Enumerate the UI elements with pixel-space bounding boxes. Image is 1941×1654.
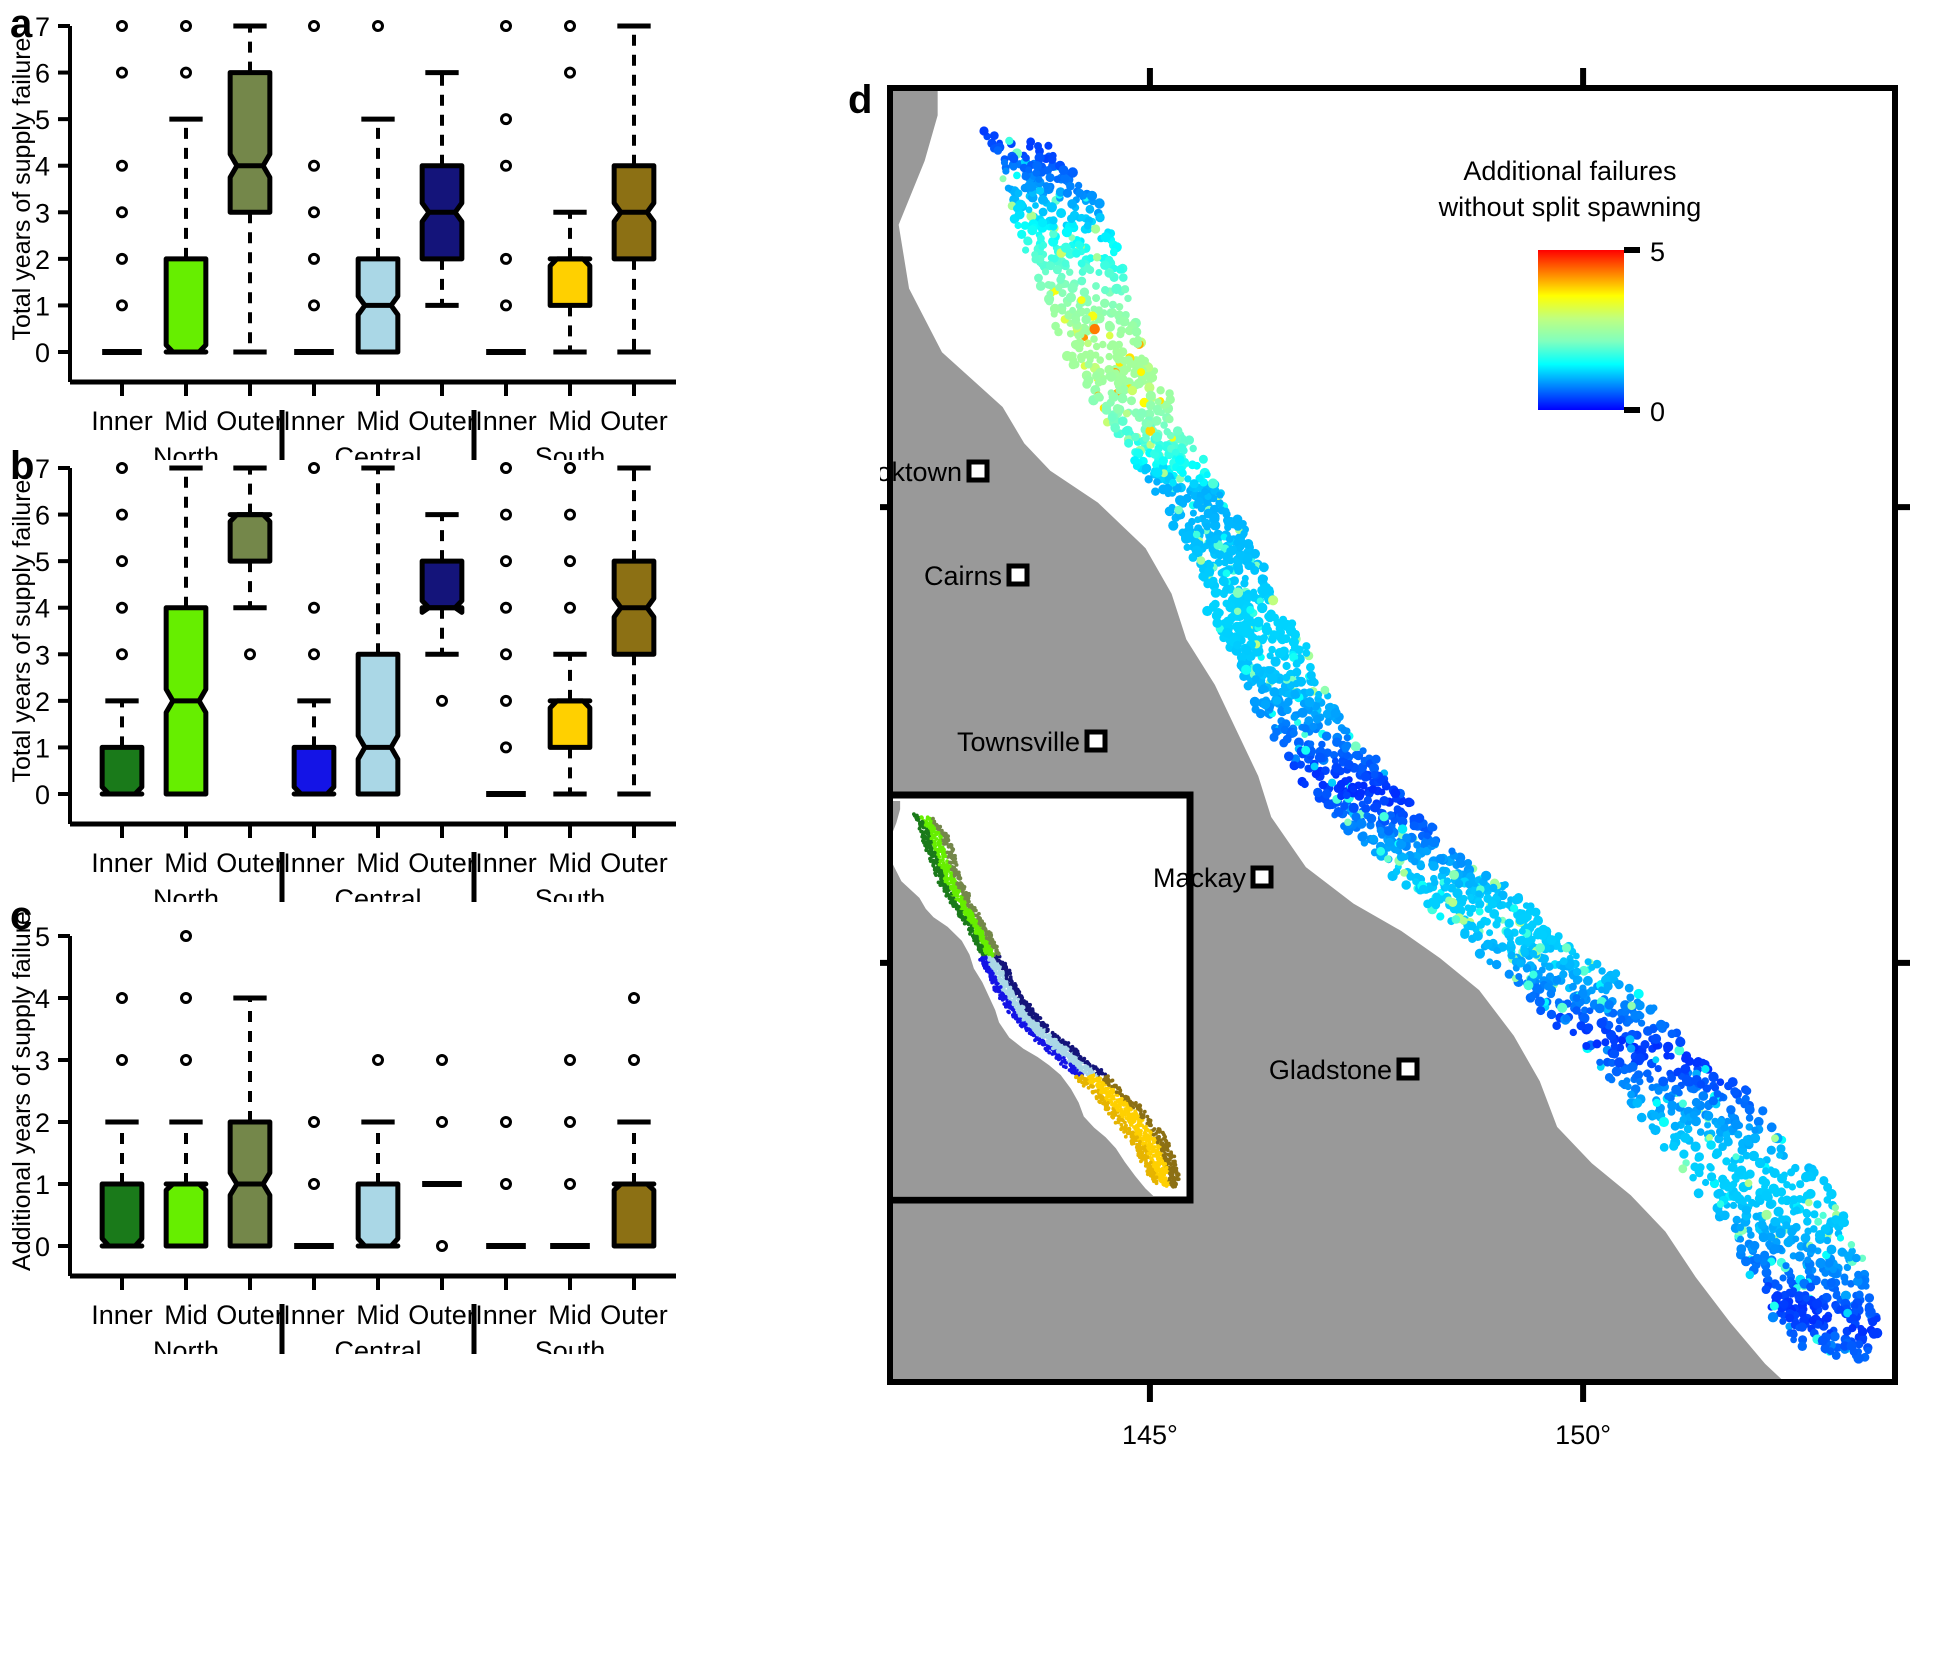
y-tick-label: 5 bbox=[35, 547, 50, 577]
x-shelf-label: Outer bbox=[408, 1300, 476, 1330]
y-tick-label: 4 bbox=[35, 984, 50, 1014]
x-shelf-label: Inner bbox=[475, 848, 537, 878]
x-shelf-label: Inner bbox=[91, 1300, 153, 1330]
outlier-point bbox=[502, 1118, 511, 1127]
outlier-point bbox=[118, 464, 127, 473]
box-shape bbox=[358, 1184, 398, 1246]
outlier-point bbox=[502, 161, 511, 170]
y-tick-label: 6 bbox=[35, 59, 50, 89]
city-marker bbox=[1009, 566, 1027, 584]
x-shelf-label: Mid bbox=[356, 1300, 400, 1330]
y-tick-label: 1 bbox=[35, 1170, 50, 1200]
panel-b-chart: 01234567Total years of supply failureInn… bbox=[0, 442, 690, 902]
x-shelf-label: Outer bbox=[600, 848, 668, 878]
outlier-point bbox=[310, 1118, 319, 1127]
outlier-point bbox=[246, 650, 255, 659]
outlier-point bbox=[502, 557, 511, 566]
city-label: Gladstone bbox=[1269, 1055, 1392, 1085]
city-marker bbox=[1399, 1060, 1417, 1078]
outlier-point bbox=[566, 1180, 575, 1189]
outlier-point bbox=[118, 161, 127, 170]
outlier-point bbox=[118, 301, 127, 310]
outlier-point bbox=[374, 22, 383, 31]
outlier-point bbox=[566, 557, 575, 566]
y-tick-label: 1 bbox=[35, 291, 50, 321]
y-tick-label: 7 bbox=[35, 12, 50, 42]
x-shelf-label: Mid bbox=[164, 406, 208, 436]
y-tick-label: 4 bbox=[35, 152, 50, 182]
outlier-point bbox=[118, 510, 127, 519]
outlier-point bbox=[502, 301, 511, 310]
x-shelf-label: Inner bbox=[91, 848, 153, 878]
y-axis-label: Total years of supply failure bbox=[8, 38, 36, 341]
outlier-point bbox=[182, 932, 191, 941]
outlier-point bbox=[502, 464, 511, 473]
y-tick-label: 1 bbox=[35, 733, 50, 763]
x-shelf-label: Mid bbox=[548, 1300, 592, 1330]
x-shelf-label: Outer bbox=[216, 848, 284, 878]
y-axis-label: Additional years of supply failure bbox=[8, 911, 36, 1271]
x-shelf-label: Inner bbox=[283, 1300, 345, 1330]
x-shelf-label: Outer bbox=[600, 1300, 668, 1330]
outlier-point bbox=[310, 161, 319, 170]
outlier-point bbox=[310, 22, 319, 31]
box-shape bbox=[358, 654, 398, 794]
box-shape bbox=[166, 259, 206, 352]
lon-tick-label: 150° bbox=[1555, 1420, 1611, 1450]
outlier-point bbox=[182, 1056, 191, 1065]
x-region-label: Central bbox=[334, 1336, 421, 1354]
outlier-point bbox=[502, 743, 511, 752]
outlier-point bbox=[310, 603, 319, 612]
outlier-point bbox=[630, 1056, 639, 1065]
box-shape bbox=[294, 747, 334, 794]
outlier-point bbox=[502, 650, 511, 659]
colorbar bbox=[1538, 250, 1624, 410]
outlier-point bbox=[118, 650, 127, 659]
y-tick-label: 0 bbox=[35, 780, 50, 810]
outlier-point bbox=[438, 696, 447, 705]
box-shape bbox=[230, 515, 270, 562]
outlier-point bbox=[374, 1056, 383, 1065]
box-shape bbox=[230, 73, 270, 213]
panel-c-chart: 012345Additional years of supply failure… bbox=[0, 890, 690, 1354]
x-region-label: North bbox=[153, 1336, 219, 1354]
y-tick-label: 2 bbox=[35, 245, 50, 275]
city-marker bbox=[1253, 868, 1271, 886]
outlier-point bbox=[566, 1118, 575, 1127]
outlier-point bbox=[118, 994, 127, 1003]
outlier-point bbox=[310, 464, 319, 473]
outlier-point bbox=[118, 208, 127, 217]
outlier-point bbox=[118, 68, 127, 77]
x-shelf-label: Inner bbox=[283, 848, 345, 878]
y-tick-label: 6 bbox=[35, 501, 50, 531]
y-tick-label: 2 bbox=[35, 1108, 50, 1138]
outlier-point bbox=[118, 22, 127, 31]
legend-title-line1: Additional failures bbox=[1463, 156, 1676, 186]
city-marker bbox=[969, 462, 987, 480]
y-tick-label: 5 bbox=[35, 922, 50, 952]
x-shelf-label: Mid bbox=[164, 1300, 208, 1330]
x-shelf-label: Outer bbox=[408, 848, 476, 878]
x-shelf-label: Outer bbox=[216, 1300, 284, 1330]
outlier-point bbox=[310, 1180, 319, 1189]
box-shape bbox=[102, 747, 142, 794]
outlier-point bbox=[182, 994, 191, 1003]
outlier-point bbox=[118, 254, 127, 263]
outlier-point bbox=[310, 254, 319, 263]
x-shelf-label: Mid bbox=[548, 848, 592, 878]
box-shape bbox=[422, 561, 462, 612]
box-shape bbox=[550, 701, 590, 748]
x-shelf-label: Outer bbox=[408, 406, 476, 436]
outlier-point bbox=[118, 603, 127, 612]
outlier-point bbox=[566, 1056, 575, 1065]
box-shape bbox=[102, 1184, 142, 1246]
y-tick-label: 3 bbox=[35, 1046, 50, 1076]
figure-root: a 01234567Total years of supply failureI… bbox=[0, 0, 1941, 1654]
outlier-point bbox=[502, 115, 511, 124]
outlier-point bbox=[502, 696, 511, 705]
x-shelf-label: Mid bbox=[548, 406, 592, 436]
outlier-point bbox=[502, 254, 511, 263]
outlier-point bbox=[566, 464, 575, 473]
outlier-point bbox=[118, 557, 127, 566]
x-shelf-label: Mid bbox=[164, 848, 208, 878]
y-axis-label: Total years of supply failure bbox=[8, 480, 36, 783]
y-tick-label: 4 bbox=[35, 594, 50, 624]
city-label: Mackay bbox=[1153, 863, 1247, 893]
panel-d-map: CooktownCairnsTownsvilleMackayGladstone−… bbox=[880, 60, 1910, 1580]
outlier-point bbox=[310, 301, 319, 310]
outlier-point bbox=[182, 68, 191, 77]
outlier-point bbox=[310, 208, 319, 217]
colorbar-min-label: 0 bbox=[1650, 397, 1665, 427]
outlier-point bbox=[182, 22, 191, 31]
x-shelf-label: Inner bbox=[91, 406, 153, 436]
outlier-point bbox=[630, 994, 639, 1003]
outlier-point bbox=[566, 603, 575, 612]
outlier-point bbox=[310, 650, 319, 659]
outlier-point bbox=[502, 1180, 511, 1189]
outlier-point bbox=[438, 1056, 447, 1065]
panel-a-chart: 01234567Total years of supply failureInn… bbox=[0, 0, 690, 460]
city-marker bbox=[1087, 732, 1105, 750]
outlier-point bbox=[502, 510, 511, 519]
outlier-point bbox=[502, 22, 511, 31]
y-tick-label: 3 bbox=[35, 198, 50, 228]
outlier-point bbox=[502, 603, 511, 612]
y-tick-label: 0 bbox=[35, 338, 50, 368]
city-label: Cooktown bbox=[880, 457, 962, 487]
outlier-point bbox=[438, 1242, 447, 1251]
legend-title-line2: without split spawning bbox=[1438, 192, 1702, 222]
box-shape bbox=[614, 1184, 654, 1246]
x-shelf-label: Outer bbox=[600, 406, 668, 436]
city-label: Cairns bbox=[924, 561, 1002, 591]
x-shelf-label: Mid bbox=[356, 406, 400, 436]
panel-d-letter: d bbox=[848, 80, 872, 120]
outlier-point bbox=[566, 22, 575, 31]
box-shape bbox=[166, 1184, 206, 1246]
x-region-label: South bbox=[535, 1336, 606, 1354]
x-shelf-label: Inner bbox=[475, 1300, 537, 1330]
city-label: Townsville bbox=[957, 727, 1080, 757]
outlier-point bbox=[438, 1118, 447, 1127]
colorbar-max-label: 5 bbox=[1650, 237, 1665, 267]
x-shelf-label: Inner bbox=[475, 406, 537, 436]
outlier-point bbox=[566, 68, 575, 77]
y-tick-label: 7 bbox=[35, 454, 50, 484]
box-shape bbox=[550, 259, 590, 306]
lon-tick-label: 145° bbox=[1122, 1420, 1178, 1450]
outlier-point bbox=[566, 510, 575, 519]
y-tick-label: 0 bbox=[35, 1232, 50, 1262]
y-tick-label: 3 bbox=[35, 640, 50, 670]
outlier-point bbox=[118, 1056, 127, 1065]
y-tick-label: 2 bbox=[35, 687, 50, 717]
x-shelf-label: Mid bbox=[356, 848, 400, 878]
y-tick-label: 5 bbox=[35, 105, 50, 135]
x-shelf-label: Inner bbox=[283, 406, 345, 436]
x-shelf-label: Outer bbox=[216, 406, 284, 436]
